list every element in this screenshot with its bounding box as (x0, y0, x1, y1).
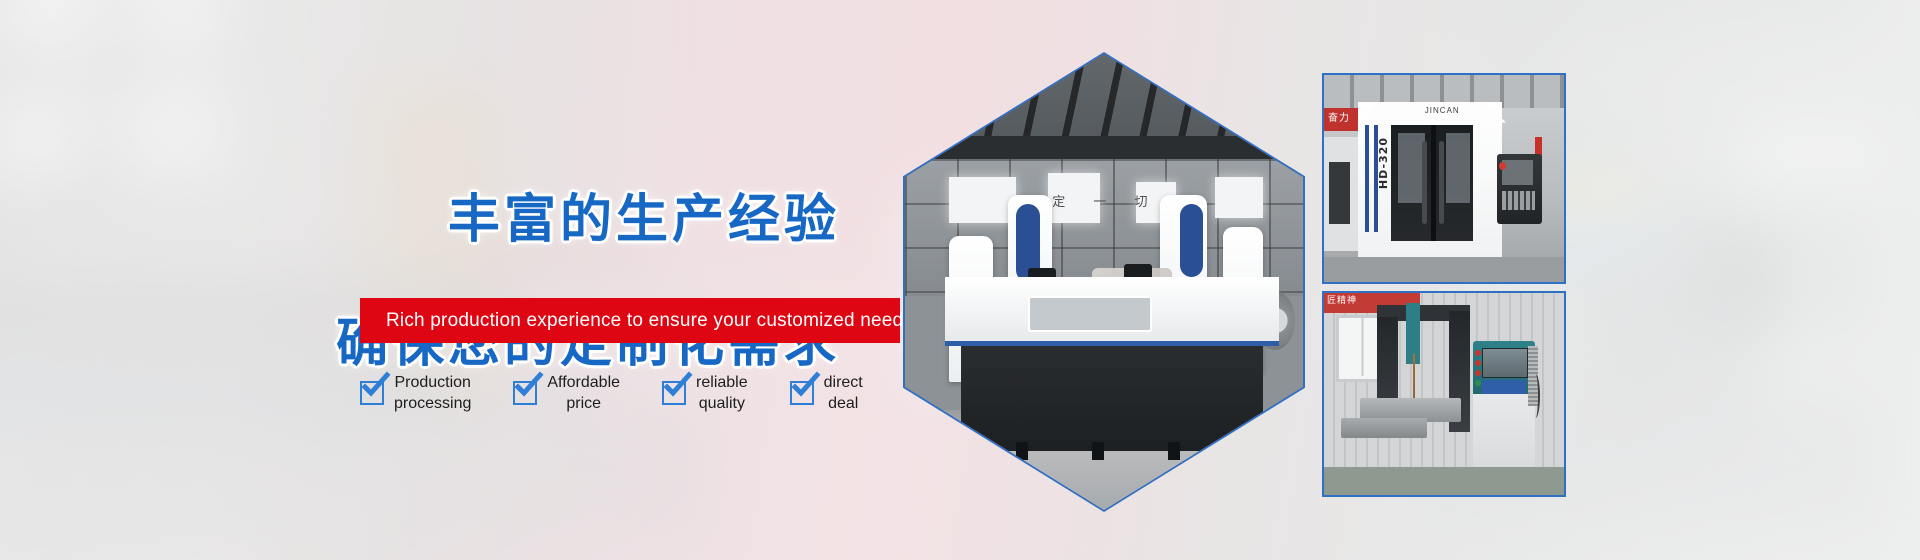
feature-label-line-2: processing (394, 395, 471, 412)
feature-item-affordable-price: Affordableprice (513, 372, 620, 414)
thumbnail-machining-center-photo: 奋力 HD-320 JINCAN (1324, 75, 1564, 282)
feature-label-line-1: Production (394, 374, 471, 391)
checkbox-checked-icon (513, 381, 537, 405)
feature-label: Productionprocessing (394, 372, 471, 414)
feature-label-line-2: deal (828, 395, 858, 412)
feature-item-production-processing: Productionprocessing (360, 372, 471, 414)
feature-label-line-1: direct (824, 374, 863, 391)
thumbnail-edm-machine[interactable]: 匠精神 (1322, 291, 1566, 497)
feature-label-line-2: price (566, 395, 601, 412)
thumbnail-edm-machine-photo: 匠精神 (1324, 293, 1564, 495)
banner-copy: 丰富的生产经验 确保您的定制化需求 Rich production experi… (0, 0, 920, 560)
hexagon-photo-clip: 定 一 切 (905, 54, 1303, 510)
checkbox-checked-icon (790, 381, 814, 405)
checkbox-checked-icon (360, 381, 384, 405)
feature-label: reliablequality (696, 372, 748, 414)
hero-image-hexagon: 定 一 切 (903, 52, 1305, 512)
feature-label-line-1: Affordable (547, 374, 620, 391)
subtitle-bar: Rich production experience to ensure you… (360, 298, 900, 343)
feature-label-line-2: quality (699, 395, 745, 412)
promo-banner: 丰富的生产经验 确保您的定制化需求 Rich production experi… (0, 0, 1920, 560)
feature-item-reliable-quality: reliablequality (662, 372, 748, 414)
thumbnail-gallery: 奋力 HD-320 JINCAN (1322, 73, 1562, 493)
feature-list: Productionprocessing Affordableprice rel… (360, 372, 863, 414)
thumbnail-machining-center[interactable]: 奋力 HD-320 JINCAN (1322, 73, 1566, 284)
feature-item-direct-deal: directdeal (790, 372, 863, 414)
headline-line-1: 丰富的生产经验 (0, 190, 840, 252)
hero-factory-photo: 定 一 切 (905, 54, 1303, 510)
feature-label: directdeal (824, 372, 863, 414)
subtitle-text: Rich production experience to ensure you… (360, 310, 913, 332)
checkbox-checked-icon (662, 381, 686, 405)
hero-wall-text: 定 一 切 (1052, 191, 1163, 218)
thumbnail-model-label: HD-320 (1377, 137, 1390, 189)
thumbnail-banner-text: 奋力 (1328, 109, 1350, 124)
thumbnail-banner-text: 匠精神 (1327, 293, 1357, 306)
feature-label-line-1: reliable (696, 374, 748, 391)
feature-label: Affordableprice (547, 372, 620, 414)
thumbnail-brand-label: JINCAN (1425, 106, 1460, 115)
